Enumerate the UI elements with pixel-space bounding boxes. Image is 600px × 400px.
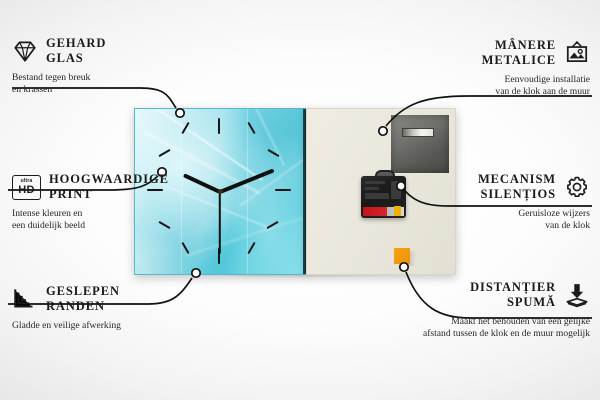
leader-line-manere-metalice [386, 96, 592, 126]
feature-hoogwaardige-print[interactable]: ultra HD HOOGWAARDIGE PRINT Intense kleu… [12, 172, 188, 233]
leader-endpoint-ring [176, 109, 184, 117]
feature-subtitle: Geruisloze wijzers van de klok [390, 208, 590, 234]
feature-subtitle: Maakt het behouden van een gelijke afsta… [320, 316, 590, 342]
feature-geslepen-randen[interactable]: GESLEPEN RANDEN Gladde en veilige afwerk… [12, 284, 202, 332]
feature-manere-metalice[interactable]: MÂNERE METALICE Eenvoudige installatie v… [380, 38, 590, 99]
feature-subtitle: Eenvoudige installatie van de klok aan d… [380, 74, 590, 100]
feature-mecanism-silentios[interactable]: MECANISM SILENȚIOS Geruisloze wijzers va… [390, 172, 590, 233]
feature-title: MECANISM SILENȚIOS [478, 172, 556, 203]
infographic-canvas: GEHARD GLAS Bestand tegen breuk en krass… [0, 0, 600, 400]
feature-header: GEHARD GLAS [12, 36, 172, 67]
feature-title: MÂNERE METALICE [482, 38, 556, 69]
feature-title: DISTANȚIER SPUMĂ [470, 280, 556, 311]
feature-gehard-glas[interactable]: GEHARD GLAS Bestand tegen breuk en krass… [12, 36, 172, 97]
feature-distantier-spuma[interactable]: DISTANȚIER SPUMĂ Maakt het behouden van … [320, 280, 590, 341]
feature-subtitle: Gladde en veilige afwerking [12, 320, 202, 333]
feature-title: GESLEPEN RANDEN [46, 284, 120, 315]
gear-icon [564, 174, 590, 200]
leader-endpoint-ring [379, 127, 387, 135]
beveled-edges-icon [12, 286, 38, 312]
feature-header: DISTANȚIER SPUMĂ [320, 280, 590, 311]
leader-endpoint-ring [400, 263, 408, 271]
feature-header: MECANISM SILENȚIOS [390, 172, 590, 203]
diamond-icon [12, 38, 38, 64]
leader-endpoint-ring [192, 269, 200, 277]
feature-header: MÂNERE METALICE [380, 38, 590, 69]
feature-title: GEHARD GLAS [46, 36, 106, 67]
feature-subtitle: Bestand tegen breuk en krassen [12, 72, 172, 98]
feature-subtitle: Intense kleuren en een duidelijk beeld [12, 208, 188, 234]
ultra-hd-icon: ultra HD [12, 175, 41, 200]
feature-header: GESLEPEN RANDEN [12, 284, 202, 315]
feature-header: ultra HD HOOGWAARDIGE PRINT [12, 172, 188, 203]
feature-title: HOOGWAARDIGE PRINT [49, 172, 169, 203]
spacer-arrow-icon [564, 282, 590, 308]
hanging-picture-icon [564, 40, 590, 66]
